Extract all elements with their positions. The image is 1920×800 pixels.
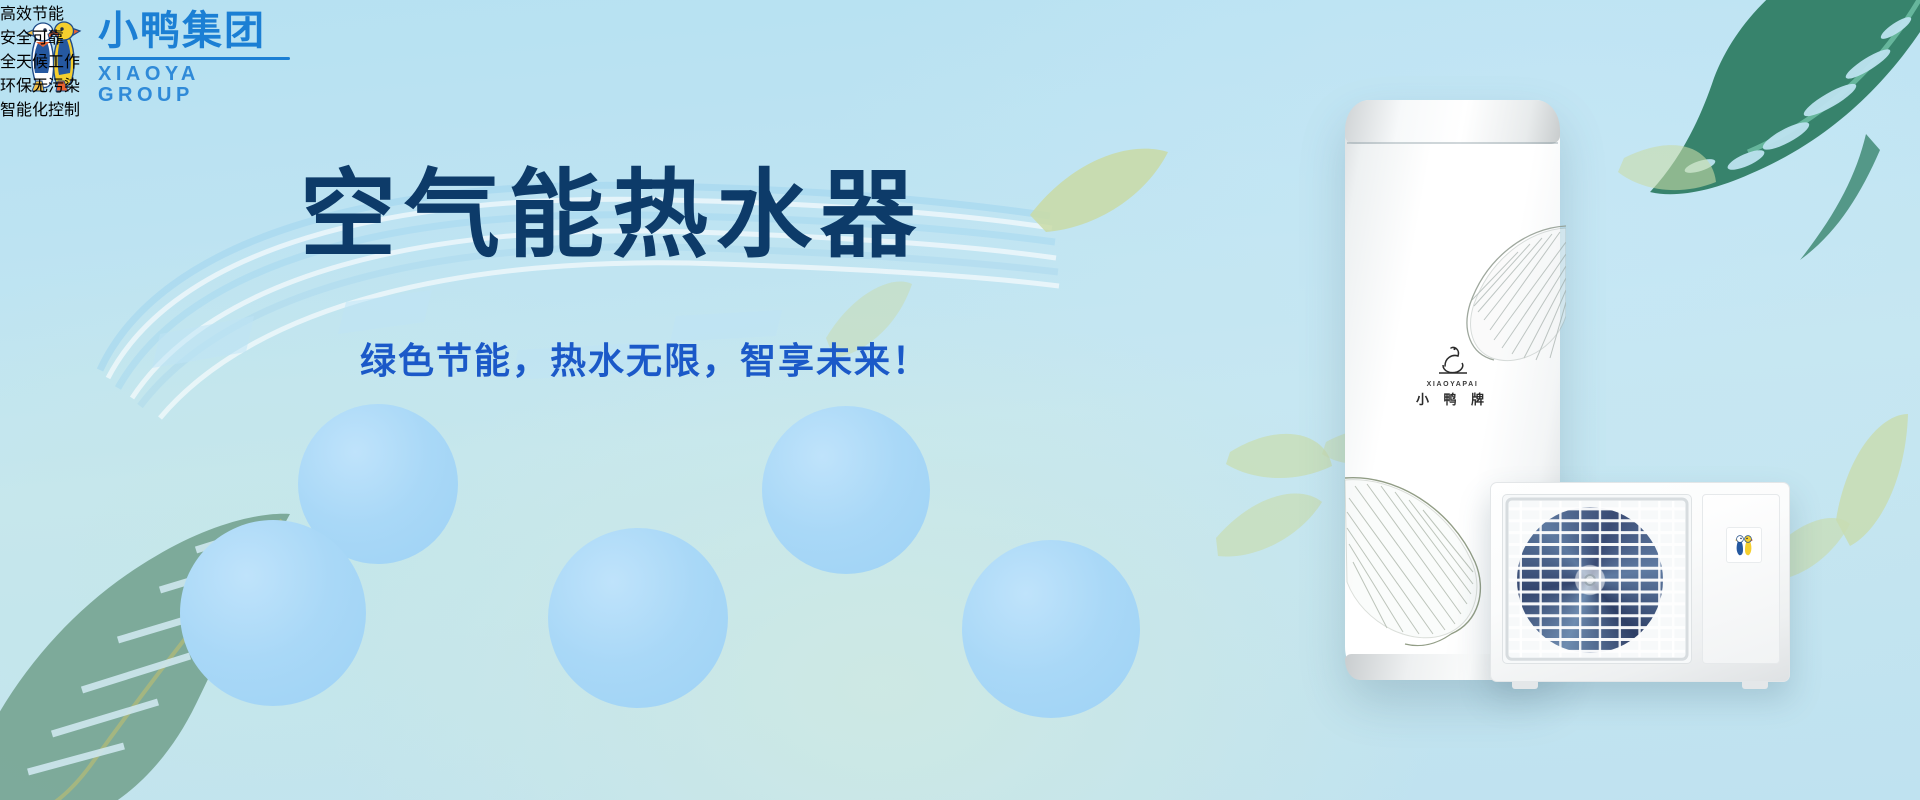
feature-bubble-smart[interactable] <box>962 540 1140 718</box>
duck-outline-icon <box>1433 340 1473 380</box>
feature-label-allweather: 全天候工作 <box>0 48 1920 72</box>
unit-grille <box>1502 494 1692 664</box>
unit-side-panel <box>1702 494 1780 664</box>
tank-top-cap <box>1345 100 1560 144</box>
feature-label-efficient: 高效节能 <box>0 0 1920 24</box>
tank-brand-chinese: 小 鸭 牌 <box>1416 389 1489 408</box>
tank-brand-pinyin: XIAOYAPAI <box>1427 381 1479 388</box>
feature-label-ecofriendly: 环保无污染 <box>0 72 1920 96</box>
feature-label-reliable: 安全可靠 <box>0 24 1920 48</box>
tank-seam <box>1347 142 1558 144</box>
grille-bars-icon <box>1503 495 1691 663</box>
air-source-water-heater-banner: 小鸭集团 XIAOYA GROUP 空气能热水器 绿色节能，热水无限，智享未来！… <box>0 0 1920 800</box>
unit-foot-left <box>1512 681 1538 689</box>
feature-bubble-reliable[interactable] <box>762 406 930 574</box>
feature-bubble-ecofriendly[interactable] <box>548 528 728 708</box>
unit-foot-right <box>1742 681 1768 689</box>
duck-mascot-sticker-icon <box>1727 528 1761 562</box>
heat-pump-outdoor-unit <box>1490 482 1790 682</box>
tank-brand-mark: XIAOYAPAI 小 鸭 牌 <box>1345 340 1560 408</box>
feature-bubble-allweather[interactable] <box>180 520 366 706</box>
feature-label-smart: 智能化控制 <box>0 96 1920 120</box>
